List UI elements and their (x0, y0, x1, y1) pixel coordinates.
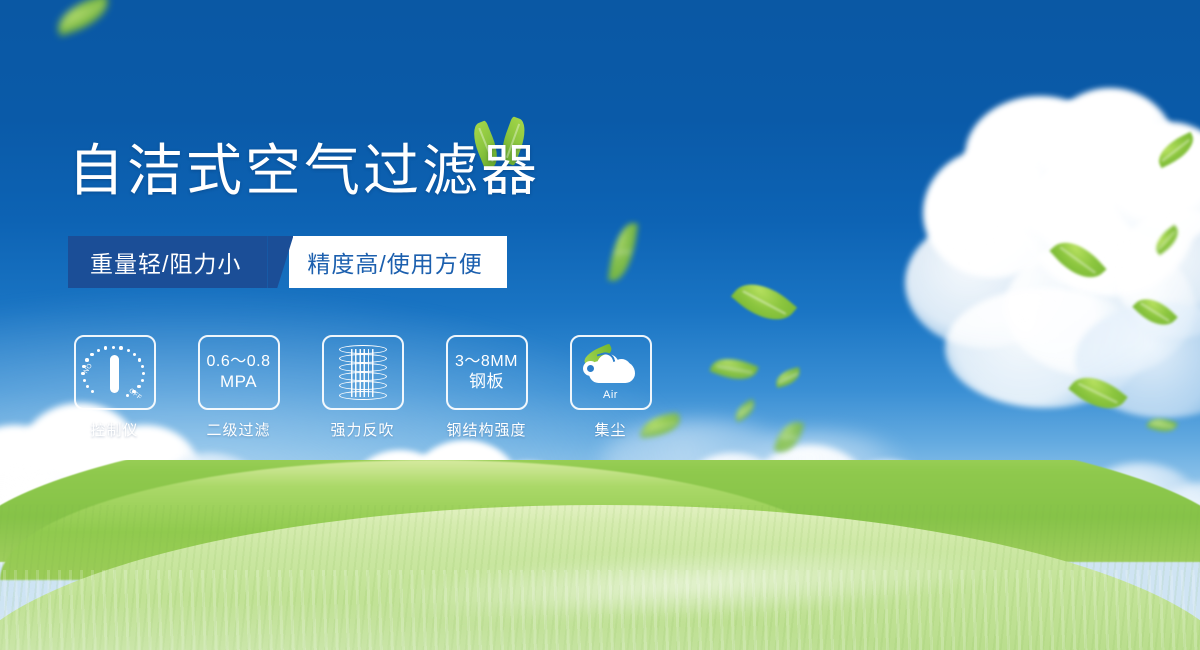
subtitle-bar: 重量轻/阻力小 精度高/使用方便 (68, 236, 507, 288)
feature-item-pressure[interactable]: 0.6～0.8 MPA 二级过滤 (190, 335, 287, 440)
feature-label: 控制仪 (66, 419, 163, 440)
feature-icon-box: NO OFF (74, 335, 156, 410)
pressure-text-icon: 0.6～0.8 (207, 353, 271, 372)
feature-label: 钢结构强度 (438, 419, 535, 440)
feature-item-control-dial[interactable]: NO OFF 控制仪 (66, 335, 163, 440)
feature-item-dust[interactable]: Air 集尘 (562, 335, 659, 440)
steel-plate-text-icon: 3～8MM (455, 353, 518, 372)
feature-icon-box: 3～8MM 钢板 (446, 335, 528, 410)
air-cloud-icon: Air (581, 348, 641, 398)
dial-off-label: OFF (128, 387, 144, 401)
air-label: Air (581, 389, 641, 401)
subtitle-left: 重量轻/阻力小 (68, 236, 267, 288)
feature-label: 二级过滤 (190, 419, 287, 440)
feature-list: NO OFF 控制仪 0.6～0.8 MPA 二级过滤 (66, 335, 659, 440)
feature-item-steel[interactable]: 3～8MM 钢板 钢结构强度 (438, 335, 535, 440)
filter-stack-icon (339, 345, 387, 401)
dial-on-label: NO (82, 362, 94, 375)
feature-item-blowback[interactable]: 强力反吹 (314, 335, 411, 440)
steel-plate-material-text: 钢板 (469, 372, 504, 392)
control-dial-icon: NO OFF (83, 344, 147, 402)
grass-field (0, 460, 1200, 650)
pressure-unit-text: MPA (220, 372, 257, 392)
product-banner: 自洁式空气过滤器 重量轻/阻力小 精度高/使用方便 (0, 0, 1200, 650)
feature-icon-box: 0.6～0.8 MPA (198, 335, 280, 410)
dial-needle (110, 355, 119, 393)
feature-icon-box (322, 335, 404, 410)
feature-label: 强力反吹 (314, 419, 411, 440)
page-title: 自洁式空气过滤器 (68, 141, 540, 201)
feature-icon-box: Air (570, 335, 652, 410)
subtitle-right: 精度高/使用方便 (289, 236, 506, 288)
feature-label: 集尘 (562, 419, 659, 440)
